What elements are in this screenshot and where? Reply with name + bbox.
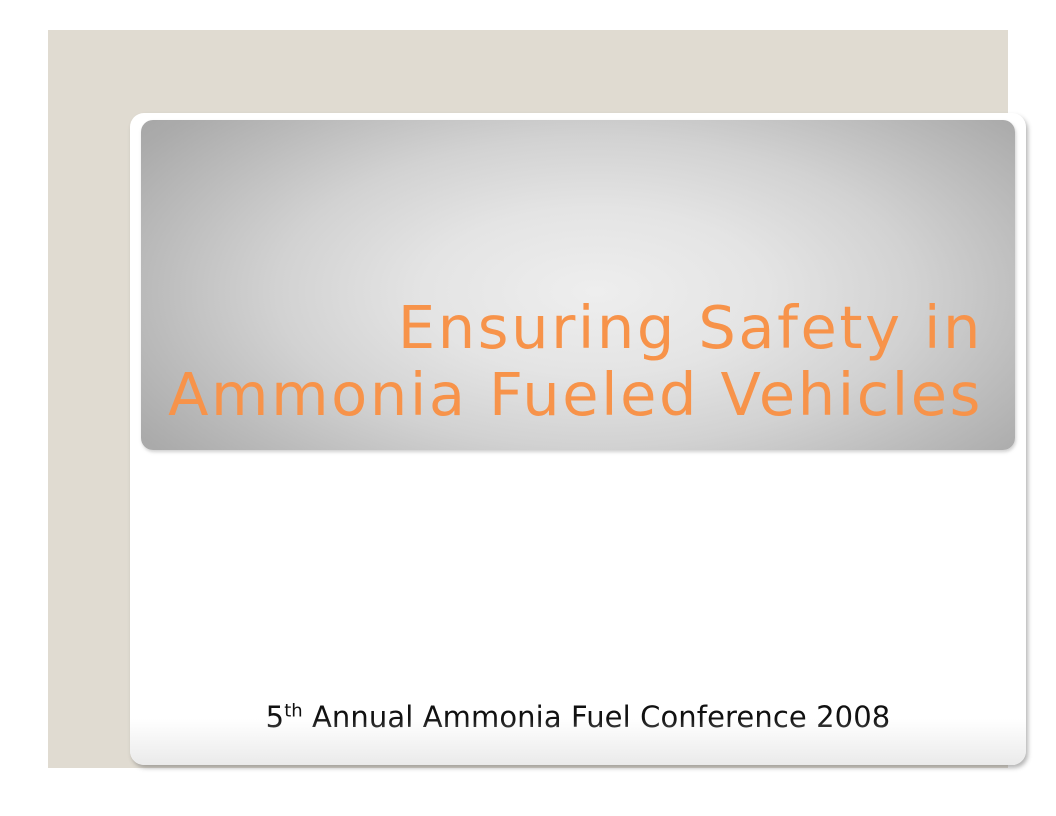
slide-subtitle: 5th Annual Ammonia Fuel Conference 2008: [130, 699, 1026, 735]
subtitle-rest: Annual Ammonia Fuel Conference 2008: [303, 700, 891, 734]
title-banner: Ensuring Safety in Ammonia Fueled Vehicl…: [141, 120, 1015, 450]
slide-card[interactable]: Ensuring Safety in Ammonia Fueled Vehicl…: [130, 113, 1026, 765]
slide-mat-frame: Ensuring Safety in Ammonia Fueled Vehicl…: [48, 30, 1008, 768]
subtitle-number: 5: [266, 700, 285, 734]
subtitle-ordinal-suffix: th: [284, 700, 302, 721]
slide-title: Ensuring Safety in Ammonia Fueled Vehicl…: [165, 294, 983, 428]
